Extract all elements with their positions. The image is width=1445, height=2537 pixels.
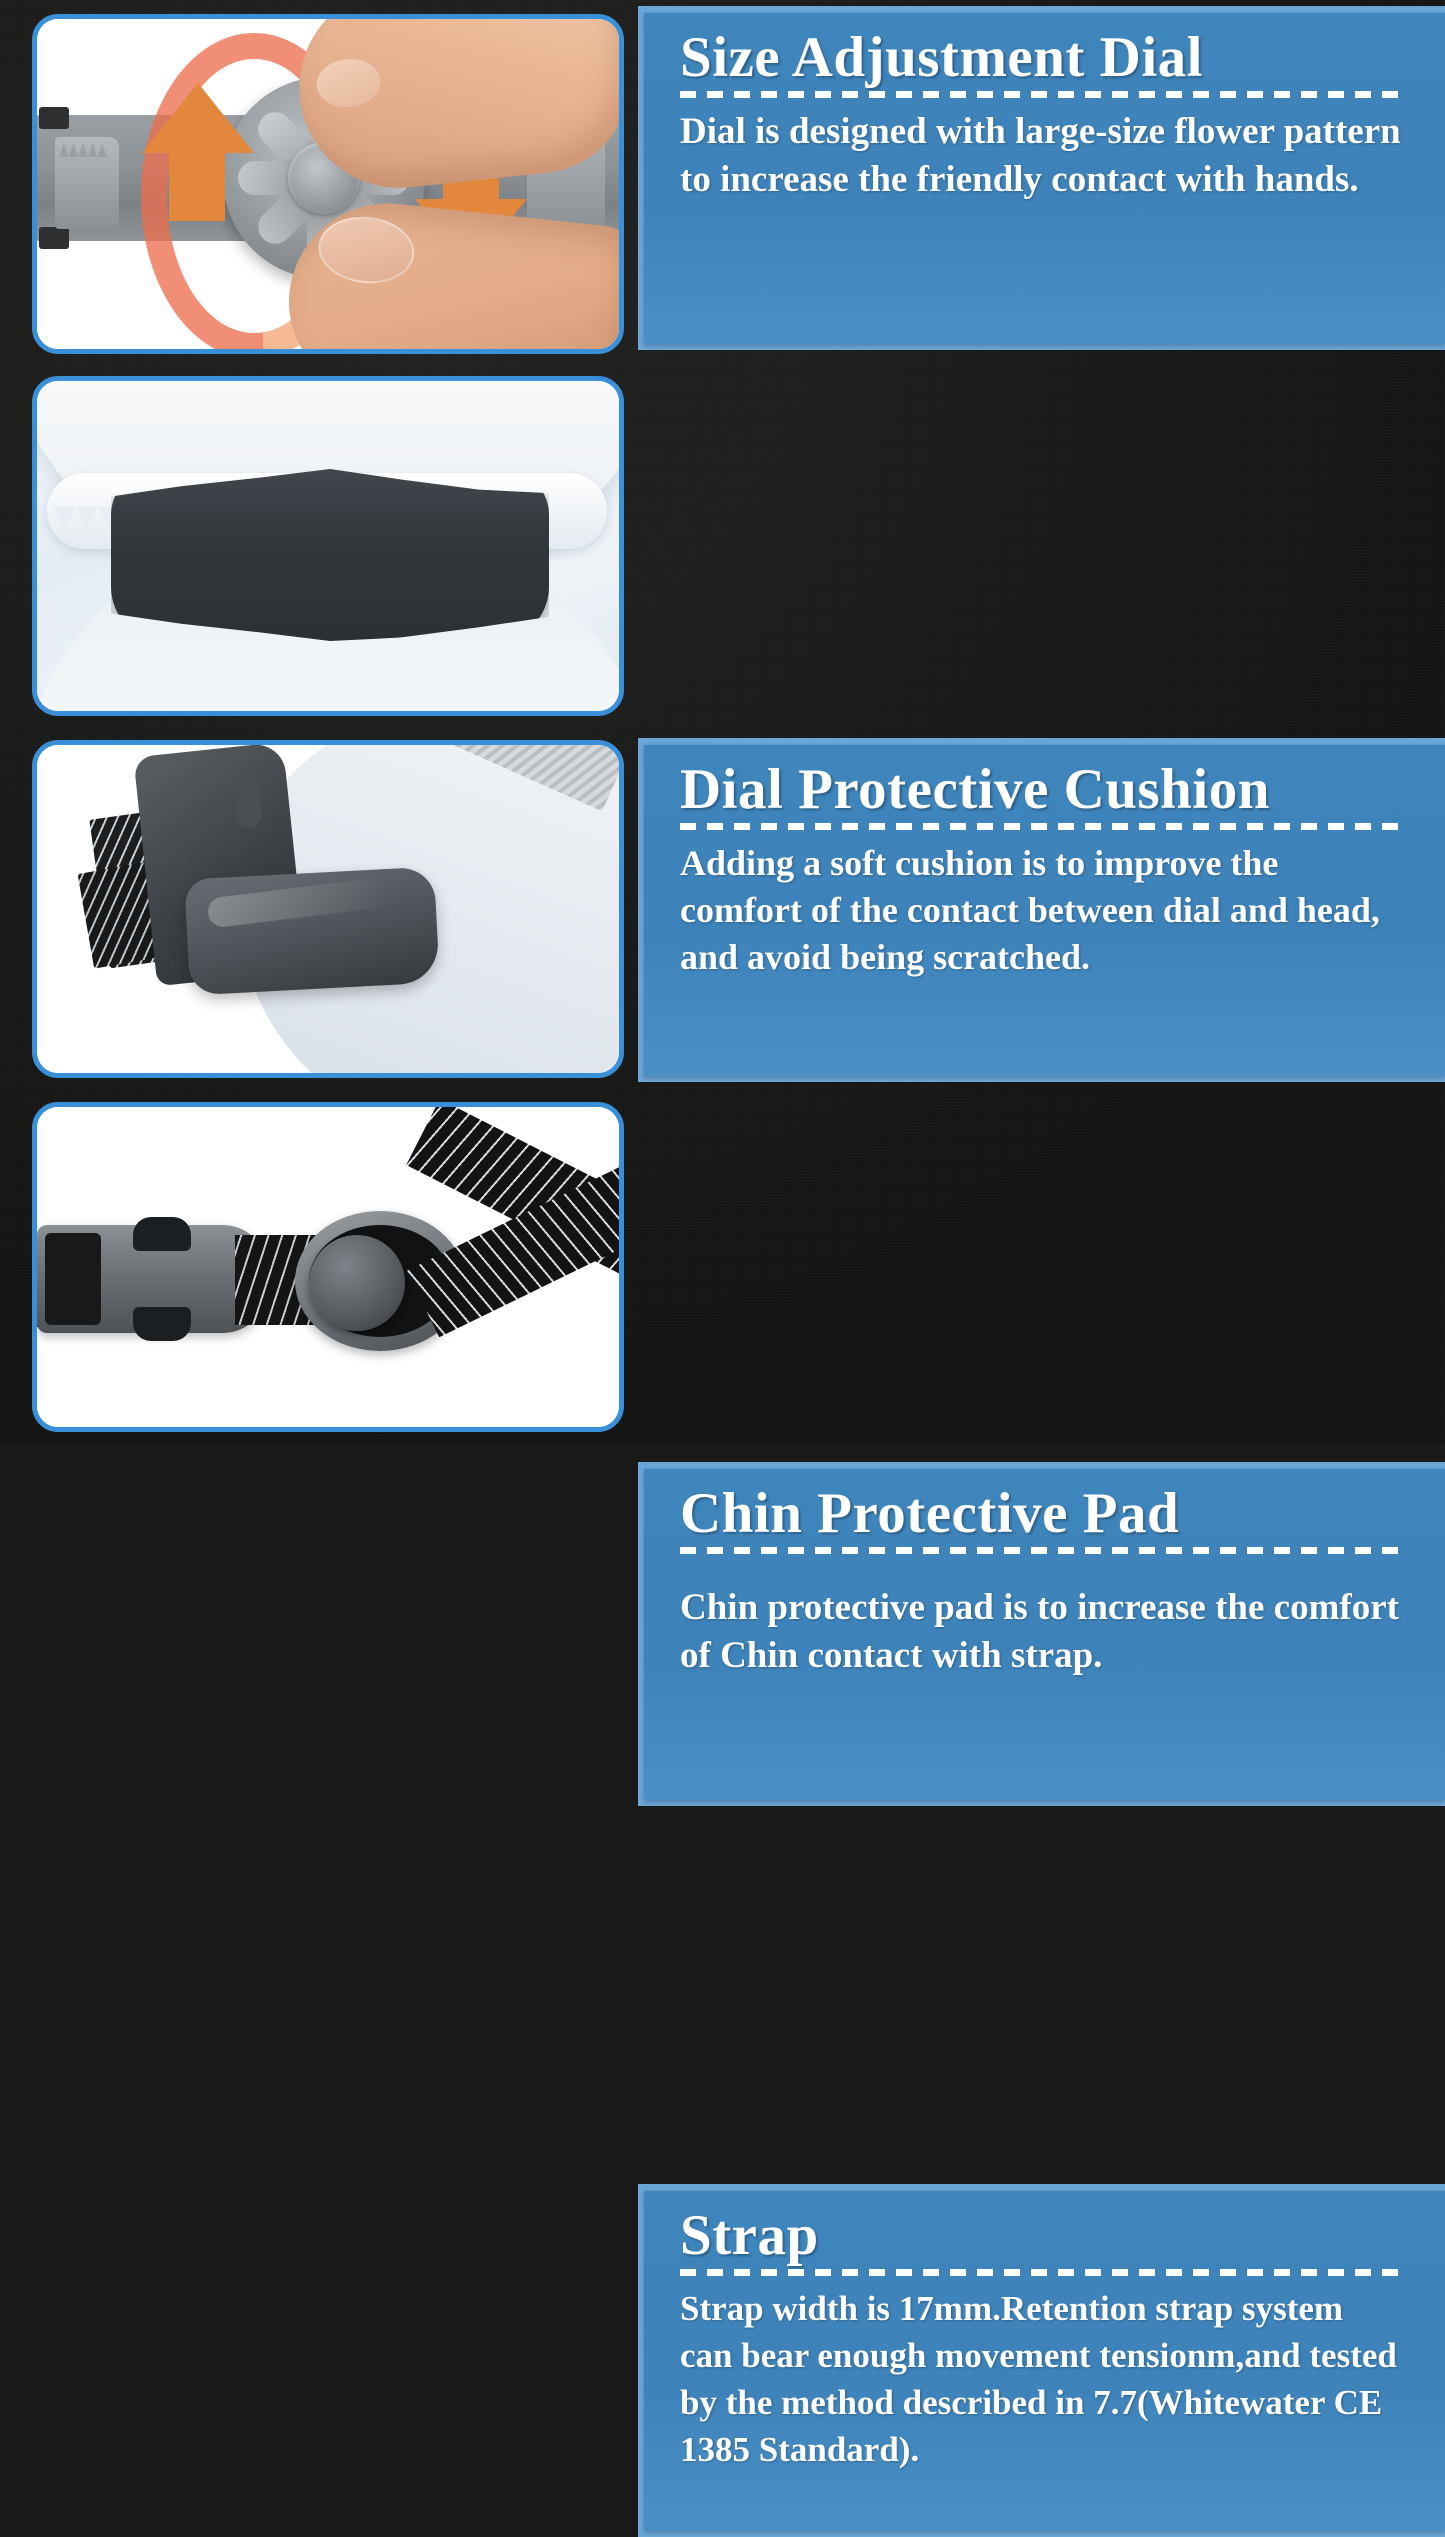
strap-splitter-knob-shape (309, 1235, 405, 1331)
chin-pad-shape (184, 867, 440, 996)
heading-divider-3 (680, 1547, 1401, 1554)
heading-divider-1 (680, 91, 1401, 98)
feature-row-4: Strap Strap width is 17mm.Retention stra… (0, 1092, 1445, 1445)
dial-protective-cushion-photo (32, 376, 624, 716)
ratchet-notch-shape (55, 137, 119, 229)
feature-heading-3: Chin Protective Pad (680, 1484, 1401, 1543)
feature-heading-4: Strap (680, 2206, 1401, 2265)
feature-text-block-1: Size Adjustment Dial Dial is designed wi… (638, 6, 1445, 350)
rotate-up-arrow-stem (169, 149, 225, 221)
side-release-buckle-shape (37, 1225, 267, 1333)
heading-divider-4 (680, 2269, 1401, 2276)
feature-body-4: Strap width is 17mm.Retention strap syst… (680, 2286, 1401, 2474)
feature-body-1: Dial is designed with large-size flower … (680, 108, 1401, 203)
feature-row-2: Dial Protective Cushion Adding a soft cu… (0, 370, 1445, 732)
feature-body-3: Chin protective pad is to increase the c… (680, 1584, 1401, 1679)
rotate-up-arrow-icon (142, 83, 254, 153)
chin-protective-pad-photo (32, 740, 624, 1078)
strap-photo (32, 1102, 624, 1432)
feature-row-1: Size Adjustment Dial Dial is designed wi… (0, 0, 1445, 370)
cushion-pad-shape (111, 469, 549, 641)
feature-row-3: Chin Protective Pad Chin protective pad … (0, 732, 1445, 1092)
feature-infographic: Size Adjustment Dial Dial is designed wi… (0, 0, 1445, 1445)
size-adjustment-dial-photo (32, 14, 624, 354)
feature-text-block-4: Strap Strap width is 17mm.Retention stra… (638, 2184, 1445, 2537)
feature-heading-1: Size Adjustment Dial (680, 28, 1401, 87)
feature-text-block-3: Chin Protective Pad Chin protective pad … (638, 1462, 1445, 1806)
